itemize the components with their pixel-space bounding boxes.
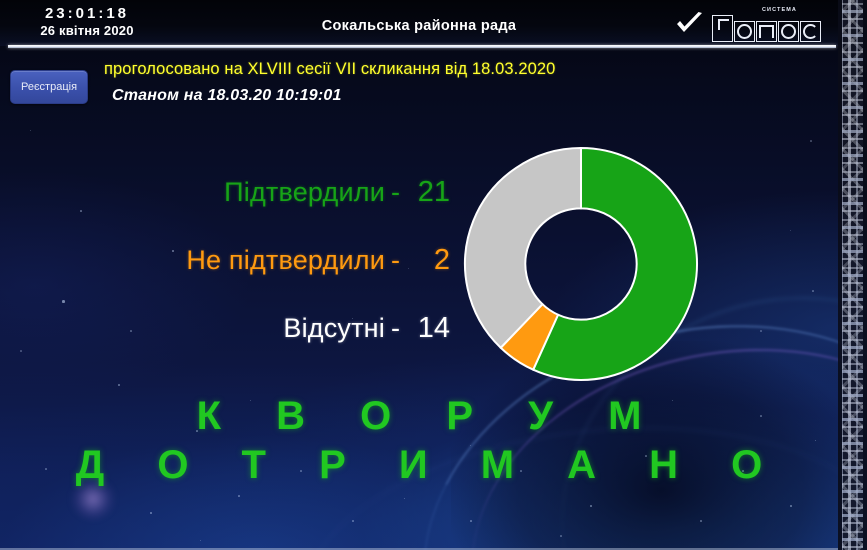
- embroidery-border-right: [838, 0, 867, 550]
- quorum-line-1: К В О Р У М: [0, 392, 838, 440]
- header-divider: [8, 45, 836, 48]
- logo-letterboxes: [712, 15, 821, 42]
- registration-button[interactable]: Реєстрація: [10, 70, 88, 104]
- logo-letter-s: [800, 21, 821, 42]
- result-label-not-confirmed: Не підтвердили: [186, 245, 385, 276]
- result-value-not-confirmed: 2: [402, 244, 450, 277]
- votes-donut-chart: [463, 146, 699, 382]
- session-as-of-line: Станом на 18.03.20 10:19:01: [112, 87, 342, 105]
- logo-letter-o1: [734, 21, 755, 42]
- quorum-banner: К В О Р У М Д О Т Р И М А Н О: [0, 392, 838, 490]
- donut-svg: [463, 146, 699, 382]
- result-label-confirmed: Підтвердили: [224, 177, 385, 208]
- logo-letter-o2: [778, 21, 799, 42]
- result-dash: -: [385, 177, 402, 208]
- golos-wordmark: СИСТЕМА: [712, 7, 798, 41]
- logo-sistema-label: СИСТЕМА: [762, 7, 797, 13]
- golos-logo: СИСТЕМА: [675, 6, 798, 42]
- logo-letter-l: [756, 21, 777, 42]
- result-row-confirmed: Підтвердили - 21: [130, 158, 450, 226]
- results-list: Підтвердили - 21 Не підтвердили - 2 Відс…: [130, 158, 450, 362]
- result-row-absent: Відсутні - 14: [130, 294, 450, 362]
- result-row-not-confirmed: Не підтвердили - 2: [130, 226, 450, 294]
- result-value-absent: 14: [402, 312, 450, 345]
- session-voted-line: проголосовано на XLVIII сесії VII склика…: [104, 60, 555, 79]
- result-value-confirmed: 21: [402, 176, 450, 209]
- result-dash: -: [385, 245, 402, 276]
- logo-letter-g: [712, 15, 733, 42]
- quorum-line-2: Д О Т Р И М А Н О: [0, 440, 838, 490]
- result-label-absent: Відсутні: [283, 313, 385, 344]
- voting-results-screen: 23:01:18 26 квітня 2020 Сокальська район…: [0, 0, 867, 550]
- check-icon: [675, 11, 705, 37]
- header-bar: 23:01:18 26 квітня 2020 Сокальська район…: [0, 0, 838, 46]
- result-dash: -: [385, 313, 402, 344]
